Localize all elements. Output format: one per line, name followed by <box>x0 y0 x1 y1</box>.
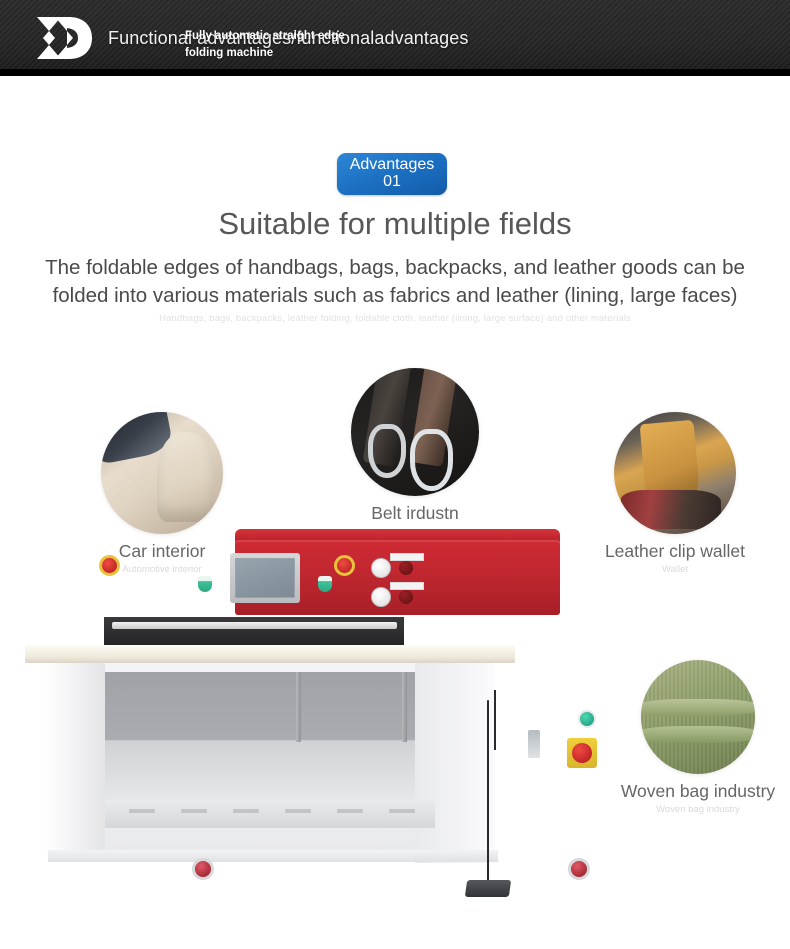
machine-cabinet-cavity <box>105 672 435 802</box>
green-button-left-icon <box>198 576 212 592</box>
label-strip-top <box>390 553 424 561</box>
machine-cable <box>487 700 489 882</box>
machine-arm-left <box>296 672 301 742</box>
green-indicator-lamp-icon <box>578 710 596 728</box>
section-headline: Suitable for multiple fields <box>0 206 790 242</box>
machine-right-post <box>415 663 495 863</box>
caster-wheel-right-icon <box>568 858 590 880</box>
label-strip-bottom <box>390 582 424 590</box>
machine-overlay-label: Fully automatic straight edge folding ma… <box>185 28 365 61</box>
power-rotary-switch-icon <box>567 738 597 768</box>
foot-pedal-icon <box>465 880 511 897</box>
emergency-stop-right-icon <box>334 555 355 576</box>
leather-wallets-photo <box>614 412 736 534</box>
caster-wheel-left-icon <box>192 858 214 880</box>
woven-fabric-photo <box>641 660 755 774</box>
belts-photo <box>351 368 479 496</box>
machine-rail <box>112 622 397 629</box>
badge-line-2: 01 <box>383 174 401 191</box>
brand-logo-icon <box>31 13 97 63</box>
hmi-touchscreen <box>230 553 300 603</box>
machine-arm-right <box>402 672 407 742</box>
machine-cable-secondary <box>494 690 496 750</box>
pressure-gauge-bottom-icon <box>371 587 391 607</box>
machine-worktop <box>25 645 515 663</box>
machine-left-post <box>45 663 105 858</box>
machine-base-rail <box>48 850 498 862</box>
advantage-badge: Advantages 01 <box>337 153 447 195</box>
section-description-sub: Handbags, bags, backpacks, leather foldi… <box>20 313 770 324</box>
pressure-gauge-top-icon <box>371 558 391 578</box>
knob-top-icon <box>399 561 413 575</box>
green-button-right-icon <box>318 576 332 592</box>
badge-line-1: Advantages <box>350 157 435 174</box>
section-description: The foldable edges of handbags, bags, ba… <box>20 254 770 311</box>
page-header: Functional advantages/functionaladvantag… <box>0 0 790 76</box>
machine-bottom-shelf <box>105 800 435 828</box>
car-seats-photo <box>101 412 223 534</box>
air-filter-regulator <box>528 730 540 758</box>
feature-item-belt-industry: Belt irdustn <box>325 368 505 526</box>
emergency-stop-left-icon <box>99 555 120 576</box>
knob-bottom-icon <box>399 590 413 604</box>
